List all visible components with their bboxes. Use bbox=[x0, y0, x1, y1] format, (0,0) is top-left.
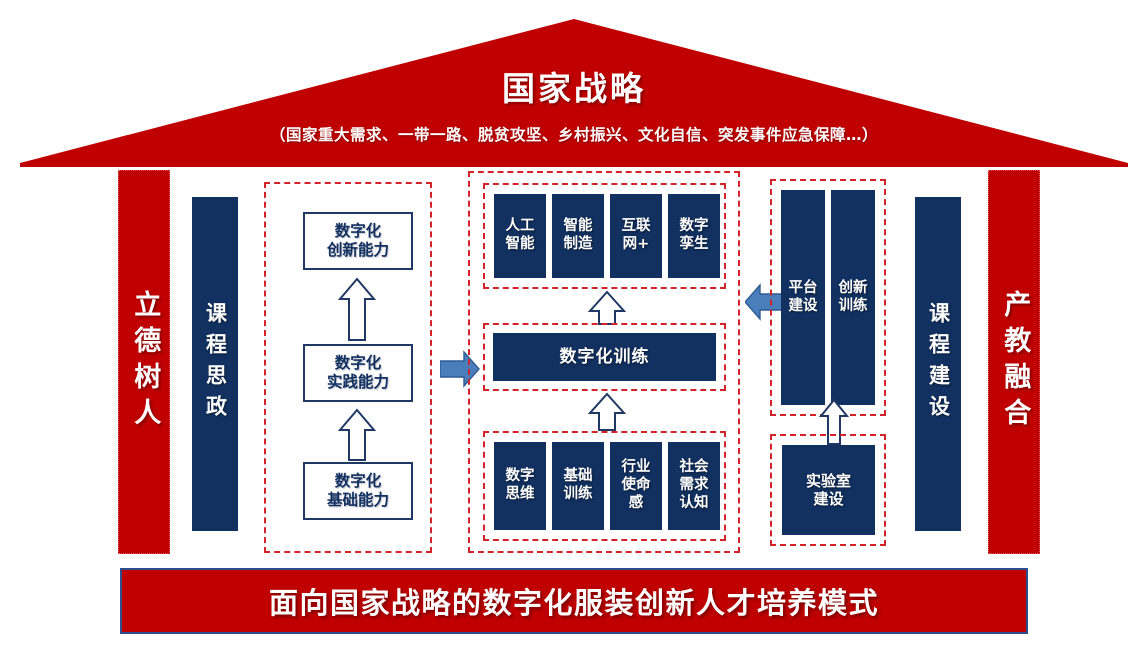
capability-box-practice-label: 数字化 实践能力 bbox=[327, 354, 389, 393]
diagram-canvas: 国家战略 （国家重大需求、一带一路、脱贫攻坚、乡村振兴、文化自信、突发事件应急保… bbox=[0, 0, 1148, 653]
right-box-platform-construction[interactable]: 平台 建设 bbox=[781, 190, 825, 405]
center-bottom-box-basic-training[interactable]: 基础 训练 bbox=[552, 442, 604, 530]
pillar-chanjiao-ronghe[interactable]: 产教融合 bbox=[988, 170, 1040, 554]
footer-banner: 面向国家战略的数字化服装创新人才培养模式 bbox=[120, 568, 1028, 634]
pillar-kecheng-sizheng[interactable]: 课程思政 bbox=[192, 197, 238, 531]
center-bottom-box-social-demand-label: 社会 需求 认知 bbox=[680, 459, 709, 512]
center-bottom-box-digital-thinking[interactable]: 数字 思维 bbox=[494, 442, 546, 530]
roof-subtitle: （国家重大需求、一带一路、脱贫攻坚、乡村振兴、文化自信、突发事件应急保障…） bbox=[0, 123, 1148, 145]
center-bottom-box-basic-training-label: 基础 训练 bbox=[564, 468, 593, 503]
center-top-box-ai-label: 人工 智能 bbox=[506, 218, 535, 253]
capability-box-practice[interactable]: 数字化 实践能力 bbox=[303, 344, 413, 402]
roof-title: 国家战略 bbox=[0, 62, 1148, 110]
up-arrow-icon bbox=[337, 277, 377, 342]
center-bottom-box-digital-thinking-label: 数字 思维 bbox=[506, 468, 535, 503]
pillar-lide-shuren[interactable]: 立德树人 bbox=[118, 170, 170, 554]
right-box-lab-construction[interactable]: 实验室 建设 bbox=[782, 445, 875, 535]
capability-box-foundation-label: 数字化 基础能力 bbox=[327, 472, 389, 511]
center-top-box-internet-plus-label: 互联 网+ bbox=[622, 218, 651, 253]
roof-banner: 国家战略 （国家重大需求、一带一路、脱贫攻坚、乡村振兴、文化自信、突发事件应急保… bbox=[0, 0, 1148, 168]
center-top-box-smart-manufacturing-label: 智能 制造 bbox=[564, 218, 593, 253]
footer-title: 面向国家战略的数字化服装创新人才培养模式 bbox=[269, 580, 879, 622]
right-box-innovation-training[interactable]: 创新 训练 bbox=[831, 190, 875, 405]
pillar-kecheng-jianshe-label: 课程建设 bbox=[925, 302, 952, 426]
center-top-box-ai[interactable]: 人工 智能 bbox=[494, 194, 546, 278]
center-bottom-box-industry-mission-label: 行业 使命 感 bbox=[622, 459, 651, 512]
right-box-platform-construction-label: 平台 建设 bbox=[789, 280, 818, 315]
pillar-chanjiao-ronghe-label: 产教融合 bbox=[997, 290, 1032, 434]
center-bottom-box-social-demand[interactable]: 社会 需求 认知 bbox=[668, 442, 720, 530]
pillar-kecheng-jianshe[interactable]: 课程建设 bbox=[915, 197, 961, 531]
capability-box-innovation[interactable]: 数字化 创新能力 bbox=[303, 212, 413, 270]
up-arrow-icon bbox=[337, 408, 377, 462]
center-top-box-smart-manufacturing[interactable]: 智能 制造 bbox=[552, 194, 604, 278]
pillar-lide-shuren-label: 立德树人 bbox=[127, 290, 162, 434]
capability-box-innovation-label: 数字化 创新能力 bbox=[327, 222, 389, 261]
right-box-lab-construction-label: 实验室 建设 bbox=[806, 472, 851, 509]
center-middle-box-digital-training-label: 数字化训练 bbox=[560, 347, 650, 368]
up-arrow-icon bbox=[587, 290, 627, 326]
center-middle-box-digital-training[interactable]: 数字化训练 bbox=[493, 333, 716, 381]
capability-box-foundation[interactable]: 数字化 基础能力 bbox=[303, 462, 413, 520]
right-box-innovation-training-label: 创新 训练 bbox=[839, 280, 868, 315]
up-arrow-icon bbox=[587, 392, 627, 432]
center-top-box-digital-twin[interactable]: 数字 孪生 bbox=[668, 194, 720, 278]
center-top-box-internet-plus[interactable]: 互联 网+ bbox=[610, 194, 662, 278]
center-bottom-box-industry-mission[interactable]: 行业 使命 感 bbox=[610, 442, 662, 530]
pillar-kecheng-sizheng-label: 课程思政 bbox=[202, 302, 229, 426]
center-top-box-digital-twin-label: 数字 孪生 bbox=[680, 218, 709, 253]
